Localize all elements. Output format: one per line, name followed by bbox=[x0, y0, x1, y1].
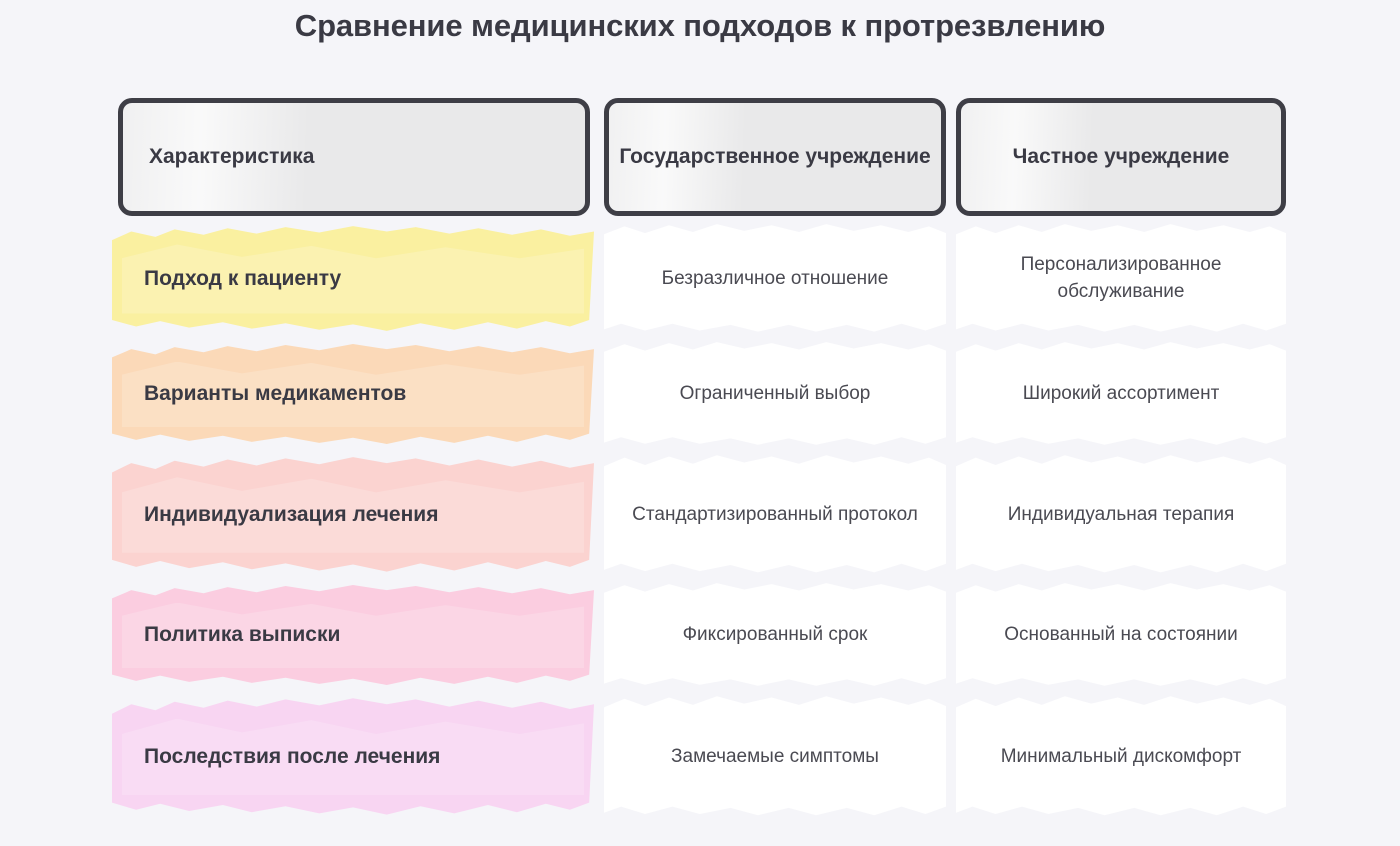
row-value-public-cell: Фиксированный срок bbox=[604, 582, 946, 689]
row-feature-label: Подход к пациенту bbox=[112, 265, 359, 293]
table-body: Подход к пациентуБезразличное отношениеП… bbox=[0, 220, 1400, 822]
row-value-public-cell: Ограниченный выбор bbox=[604, 341, 946, 448]
table-row: Политика выпискиФиксированный срокОснова… bbox=[0, 579, 1400, 692]
row-value-private-cell: Персонализированное обслуживание bbox=[956, 223, 1286, 335]
row-value-public-text: Ограниченный выбор bbox=[666, 381, 885, 408]
row-value-public-text: Стандартизированный протокол bbox=[618, 502, 932, 529]
table-row: Индивидуализация леченияСтандартизирован… bbox=[0, 451, 1400, 579]
row-feature-cell: Индивидуализация лечения bbox=[112, 456, 594, 574]
row-value-private-cell: Основанный на состоянии bbox=[956, 582, 1286, 689]
column-header-feature-label: Характеристика bbox=[149, 143, 314, 171]
row-value-private-cell: Минимальный дискомфорт bbox=[956, 695, 1286, 819]
table-row: Последствия после леченияЗамечаемые симп… bbox=[0, 692, 1400, 822]
column-header-public: Государственное учреждение bbox=[604, 98, 946, 216]
row-feature-cell: Подход к пациенту bbox=[112, 225, 594, 333]
row-feature-label: Политика выписки bbox=[112, 621, 358, 649]
row-value-private-text: Индивидуальная терапия bbox=[994, 502, 1249, 529]
column-header-private: Частное учреждение bbox=[956, 98, 1286, 216]
column-header-private-label: Частное учреждение bbox=[1013, 143, 1230, 171]
row-value-private-text: Основанный на состоянии bbox=[990, 622, 1252, 649]
row-value-private-cell: Широкий ассортимент bbox=[956, 341, 1286, 448]
row-feature-cell: Последствия после лечения bbox=[112, 697, 594, 817]
row-value-private-text: Широкий ассортимент bbox=[1009, 381, 1234, 408]
comparison-infographic: Сравнение медицинских подходов к протрез… bbox=[0, 0, 1400, 846]
row-feature-label: Варианты медикаментов bbox=[112, 380, 424, 408]
row-value-public-cell: Безразличное отношение bbox=[604, 223, 946, 335]
table-row: Варианты медикаментовОграниченный выборШ… bbox=[0, 338, 1400, 451]
row-value-public-text: Замечаемые симптомы bbox=[657, 744, 893, 771]
table-header-row: Характеристика Государственное учреждени… bbox=[0, 98, 1400, 216]
table-row: Подход к пациентуБезразличное отношениеП… bbox=[0, 220, 1400, 338]
row-value-public-text: Безразличное отношение bbox=[648, 266, 903, 293]
row-value-public-text: Фиксированный срок bbox=[669, 622, 882, 649]
row-value-private-text: Персонализированное обслуживание bbox=[956, 252, 1286, 306]
row-feature-label: Индивидуализация лечения bbox=[112, 501, 456, 529]
row-value-private-text: Минимальный дискомфорт bbox=[987, 744, 1256, 771]
row-value-private-cell: Индивидуальная терапия bbox=[956, 454, 1286, 576]
column-header-feature: Характеристика bbox=[118, 98, 590, 216]
row-value-public-cell: Стандартизированный протокол bbox=[604, 454, 946, 576]
page-title: Сравнение медицинских подходов к протрез… bbox=[0, 8, 1400, 44]
column-header-public-label: Государственное учреждение bbox=[619, 143, 930, 171]
row-feature-label: Последствия после лечения bbox=[112, 743, 458, 771]
row-feature-cell: Варианты медикаментов bbox=[112, 343, 594, 446]
row-feature-cell: Политика выписки bbox=[112, 584, 594, 687]
row-value-public-cell: Замечаемые симптомы bbox=[604, 695, 946, 819]
